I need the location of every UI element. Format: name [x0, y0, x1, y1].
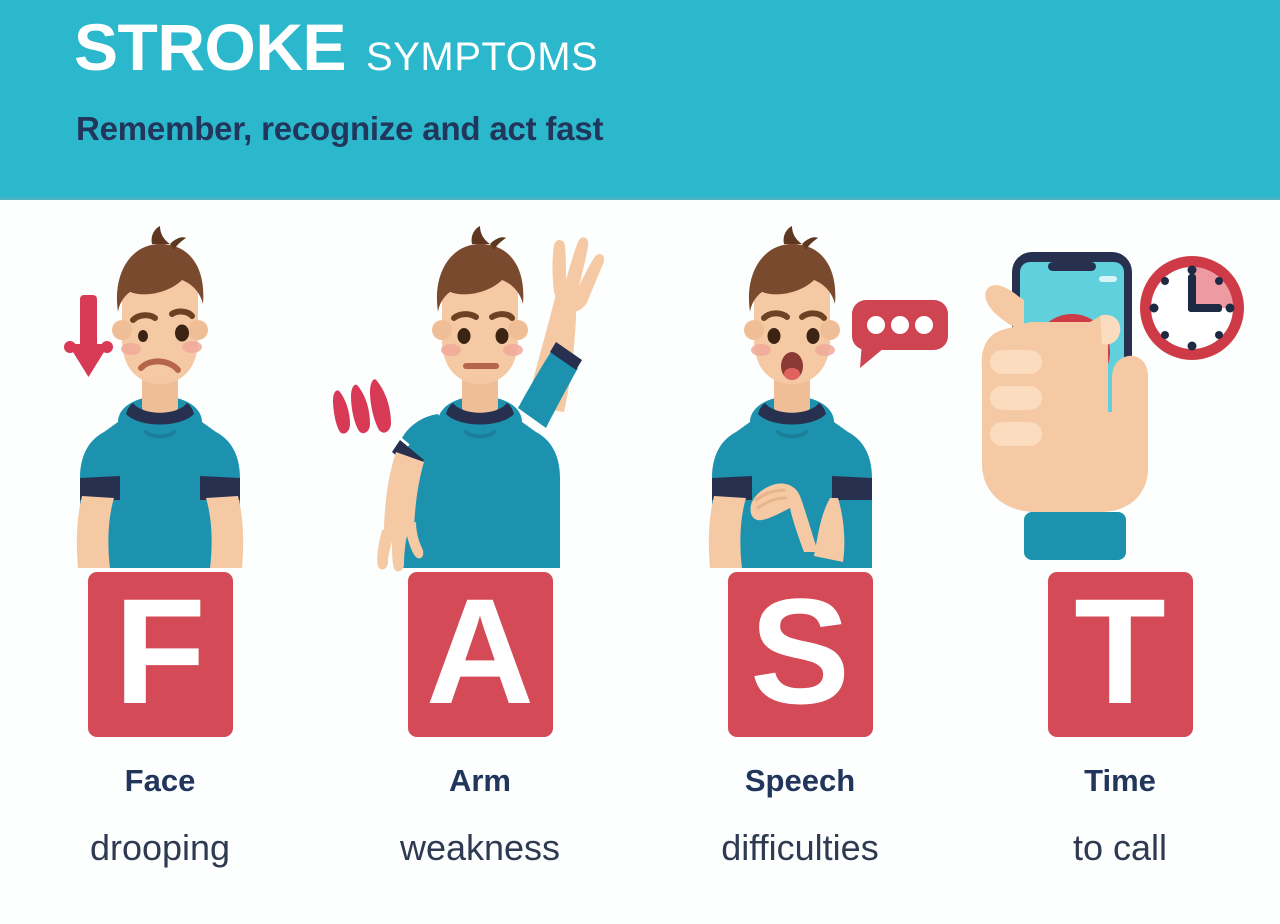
hand-holding-phone [960, 200, 1280, 568]
label-time: Time [1084, 763, 1156, 799]
letter-tile-s: S [728, 572, 873, 737]
column-time: T Time to call [960, 200, 1280, 924]
label-face: Face [125, 763, 196, 799]
desc-face: drooping [90, 827, 230, 869]
letter-a: A [426, 576, 534, 726]
face-drooping-figure [0, 200, 320, 568]
fast-columns: F Face drooping [0, 200, 1280, 924]
label-arm: Arm [449, 763, 511, 799]
title-stroke: STROKE [74, 14, 346, 80]
title-symptoms: SYMPTOMS [366, 37, 598, 77]
letter-s: S [750, 576, 850, 726]
letter-tile-a: A [408, 572, 553, 737]
motion-arcs-icon [333, 379, 391, 433]
letter-tile-f: F [88, 572, 233, 737]
tagline: Remember, recognize and act fast [76, 110, 603, 148]
desc-speech: difficulties [721, 827, 878, 869]
down-arrow-icon [64, 295, 113, 377]
label-speech: Speech [745, 763, 855, 799]
desc-arm: weakness [400, 827, 560, 869]
clock-icon [1140, 256, 1244, 360]
page-title: STROKE SYMPTOMS [74, 14, 598, 80]
header-band: STROKE SYMPTOMS Remember, recognize and … [0, 0, 1280, 200]
stroke-symptoms-infographic: STROKE SYMPTOMS Remember, recognize and … [0, 0, 1280, 924]
speech-difficulty-figure [640, 200, 960, 568]
arm-weakness-figure [320, 200, 640, 568]
letter-f: F [114, 576, 206, 726]
letter-t: T [1074, 576, 1166, 726]
column-arm: A Arm weakness [320, 200, 640, 924]
desc-time: to call [1073, 827, 1167, 869]
column-face: F Face drooping [0, 200, 320, 924]
letter-tile-t: T [1048, 572, 1193, 737]
speech-bubble-icon [852, 300, 948, 368]
column-speech: S Speech difficulties [640, 200, 960, 924]
